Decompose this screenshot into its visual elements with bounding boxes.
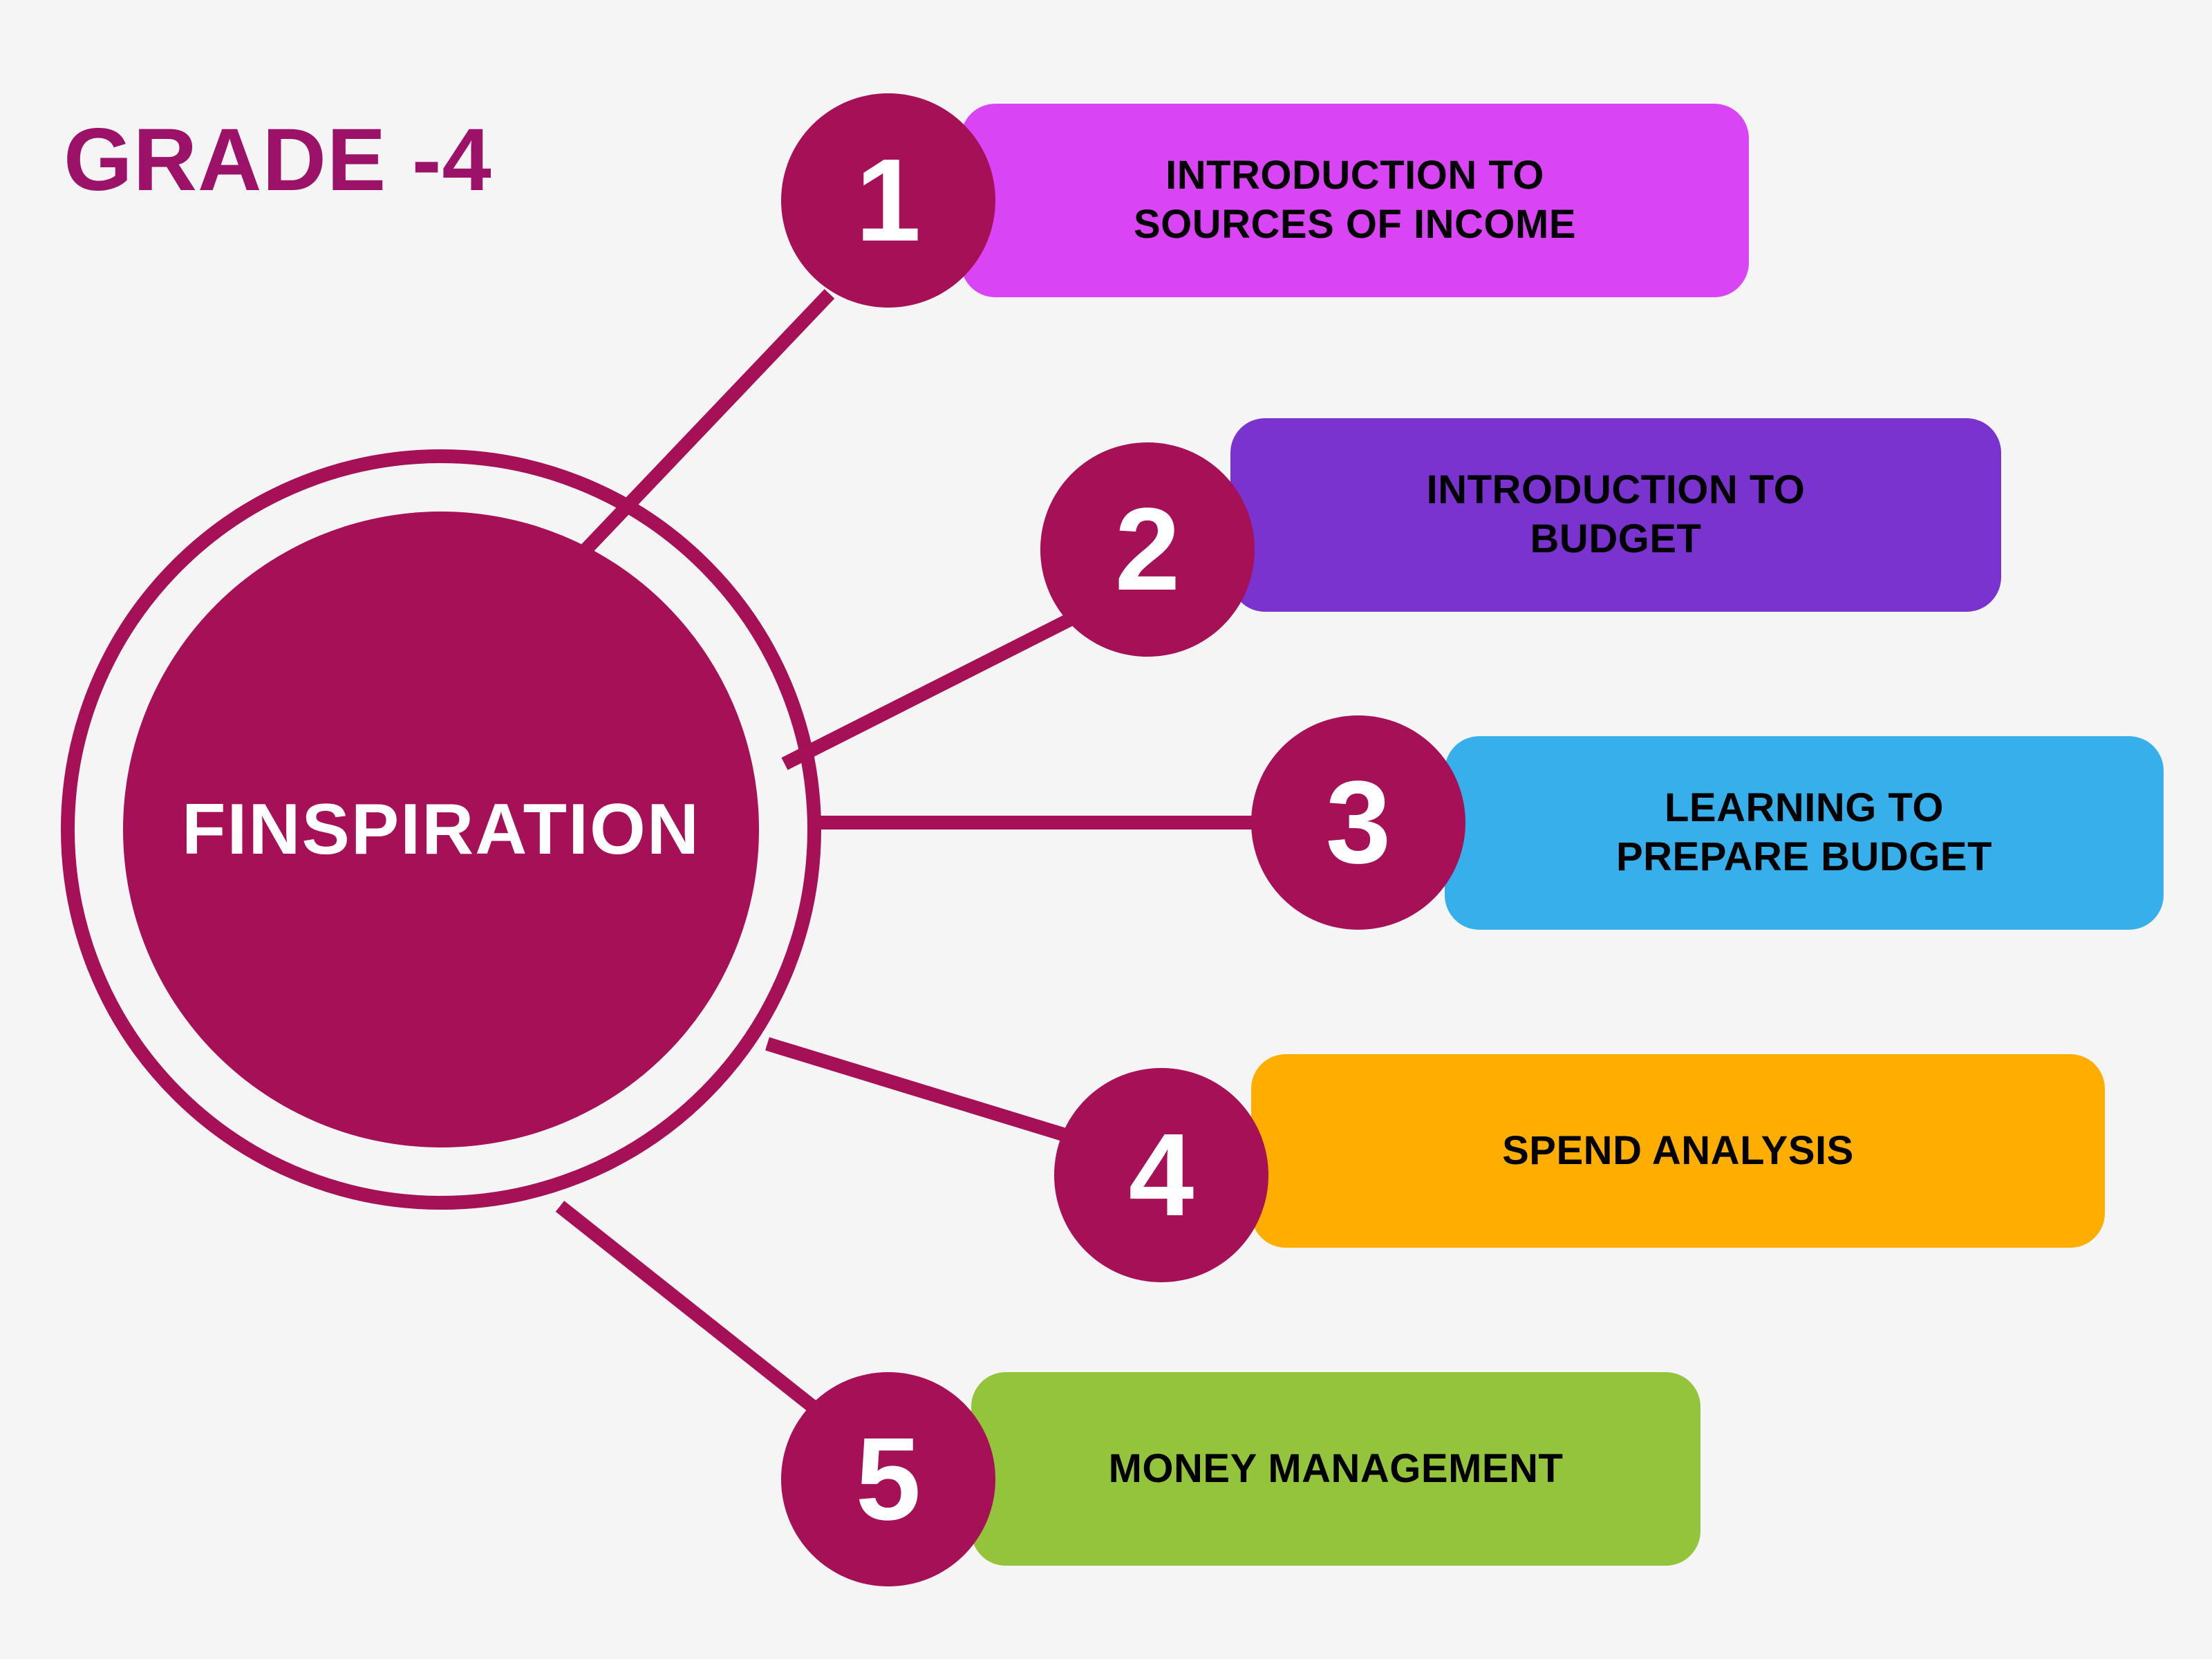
item-label-3: LEARNING TO PREPARE BUDGET	[1616, 784, 1992, 882]
item-bar-3[interactable]: LEARNING TO PREPARE BUDGET	[1445, 736, 2164, 930]
list-item[interactable]: INTRODUCTION TO SOURCES OF INCOME 1	[781, 104, 1749, 297]
list-item[interactable]: LEARNING TO PREPARE BUDGET 3	[1251, 736, 2164, 930]
connector-line-2	[785, 608, 1092, 764]
item-bar-4[interactable]: SPEND ANALYSIS	[1251, 1054, 2105, 1248]
hub-label: FINSPIRATION	[182, 789, 700, 871]
item-number-2: 2	[1115, 491, 1181, 608]
item-badge-2[interactable]: 2	[1040, 442, 1255, 657]
list-item[interactable]: SPEND ANALYSIS 4	[1054, 1054, 2105, 1248]
page-title: GRADE -4	[64, 116, 492, 205]
item-number-5: 5	[856, 1421, 921, 1538]
item-badge-1[interactable]: 1	[781, 93, 995, 308]
item-label-5: MONEY MANAGEMENT	[1109, 1445, 1564, 1494]
item-label-4: SPEND ANALYSIS	[1502, 1127, 1854, 1176]
item-bar-1[interactable]: INTRODUCTION TO SOURCES OF INCOME	[961, 104, 1749, 297]
item-bar-2[interactable]: INTRODUCTION TO BUDGET	[1230, 418, 2001, 612]
item-bar-5[interactable]: MONEY MANAGEMENT	[971, 1372, 1700, 1566]
item-badge-4[interactable]: 4	[1054, 1068, 1268, 1282]
item-label-2: INTRODUCTION TO BUDGET	[1427, 466, 1806, 564]
infographic-canvas: GRADE -4 FINSPIRATION INTRODUCTION TO SO…	[0, 0, 2212, 1659]
central-hub: FINSPIRATION	[61, 449, 821, 1210]
hub-core-circle: FINSPIRATION	[123, 512, 759, 1147]
item-badge-3[interactable]: 3	[1251, 715, 1465, 930]
item-number-3: 3	[1326, 764, 1391, 881]
list-item[interactable]: INTRODUCTION TO BUDGET 2	[1040, 418, 2001, 612]
list-item[interactable]: MONEY MANAGEMENT 5	[781, 1372, 1700, 1566]
item-number-1: 1	[856, 142, 921, 259]
item-number-4: 4	[1129, 1116, 1194, 1234]
item-label-1: INTRODUCTION TO SOURCES OF INCOME	[1134, 151, 1576, 250]
item-badge-5[interactable]: 5	[781, 1372, 995, 1586]
